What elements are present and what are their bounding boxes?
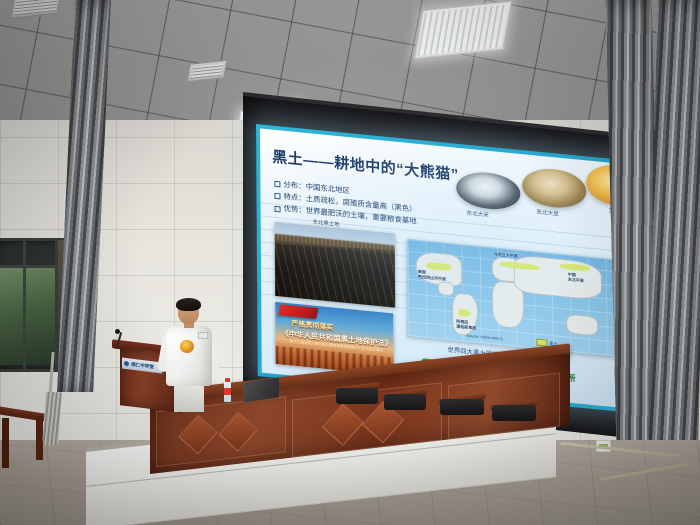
blacksoil-belt-argentina — [458, 309, 470, 317]
rice-photo — [456, 170, 520, 212]
bullet-square-icon — [274, 181, 280, 188]
soybean-photo-caption: 东北大豆 — [536, 208, 558, 218]
shirt-graphic-icon — [180, 340, 194, 353]
water-bottle[interactable] — [224, 376, 231, 402]
national-flag-graphic — [278, 304, 319, 318]
presenter — [160, 300, 218, 412]
map-label-china: 中国东北平原 — [568, 272, 584, 284]
window-glass-greenery — [0, 267, 55, 365]
chair[interactable] — [440, 399, 484, 426]
land-central-america — [438, 281, 454, 297]
podium-sign-text: 湘仁中学堂 — [131, 361, 154, 370]
black-soil-law-poster: 严格贯彻落实 《中华人民共和国黑土地保护法》 第十三届全国人民代表大会常务委员会… — [275, 302, 393, 376]
presenter-hair — [176, 298, 201, 311]
bullet-square-icon — [275, 205, 281, 212]
podium-logo-icon — [124, 361, 129, 367]
slide-title: 黑土——耕地中的“大熊猫” — [272, 146, 459, 185]
world-map-blacksoil: 美国密西西比河平原 乌克兰大平原 中国东北平原 阿根廷潘帕斯草原 (source… — [407, 239, 616, 357]
laptop[interactable] — [243, 380, 279, 402]
bullet-square-icon — [274, 193, 280, 200]
presenter-badge — [198, 332, 208, 339]
ceiling-light-panel — [414, 1, 512, 60]
soybean-photo — [522, 166, 586, 210]
chair[interactable] — [384, 394, 426, 420]
chair[interactable] — [336, 388, 378, 414]
chair[interactable] — [492, 405, 536, 432]
window-mullion — [23, 241, 26, 369]
bottle-label — [224, 388, 231, 395]
microphone-head-icon — [115, 329, 120, 334]
black-soil-field-photo — [275, 222, 396, 308]
soil-furrows — [275, 243, 396, 307]
lecture-hall-photo: 黑土——耕地中的“大熊猫” 分布：中国东北地区 特点：土质疏松，腐殖质含量高（黑… — [0, 0, 700, 525]
side-table — [0, 410, 48, 468]
map-label-argentina: 阿根廷潘帕斯草原 — [456, 319, 476, 331]
presenter-legs — [174, 384, 204, 412]
